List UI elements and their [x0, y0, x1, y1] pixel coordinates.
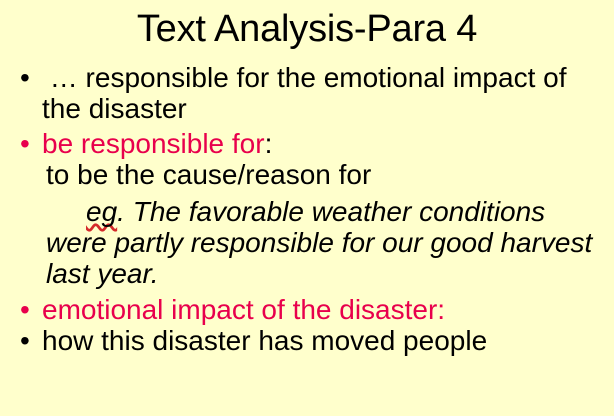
example-sentence-text: . The favorable weather conditions were … [46, 196, 592, 289]
list-item: • how this disaster has moved people [16, 325, 606, 356]
definition-text: to be the cause/reason for [16, 159, 606, 190]
bullet-icon: • [16, 294, 42, 325]
list-item: • emotional impact of the disaster: [16, 294, 606, 325]
slide: Text Analysis-Para 4 • … responsible for… [0, 0, 614, 416]
misspelled-word: eg [86, 196, 117, 227]
list-item-label-highlight: be responsible for [42, 128, 265, 159]
slide-body: • … responsible for the emotional impact… [0, 48, 614, 356]
list-item-label: emotional impact of the disaster: [42, 294, 606, 325]
bullet-icon: • [16, 62, 42, 93]
list-item: • be responsible for: [16, 128, 606, 159]
example-sentence: eg. The favorable weather conditions wer… [16, 196, 606, 289]
list-item-label: how this disaster has moved people [42, 325, 606, 356]
list-item-label-colon: : [265, 128, 273, 159]
list-item: • … responsible for the emotional impact… [16, 62, 606, 124]
list-item-label: be responsible for: [42, 128, 606, 159]
bullet-icon: • [16, 128, 42, 159]
bullet-icon: • [16, 325, 42, 356]
page-title: Text Analysis-Para 4 [0, 0, 614, 48]
list-item-label: … responsible for the emotional impact o… [42, 62, 606, 124]
